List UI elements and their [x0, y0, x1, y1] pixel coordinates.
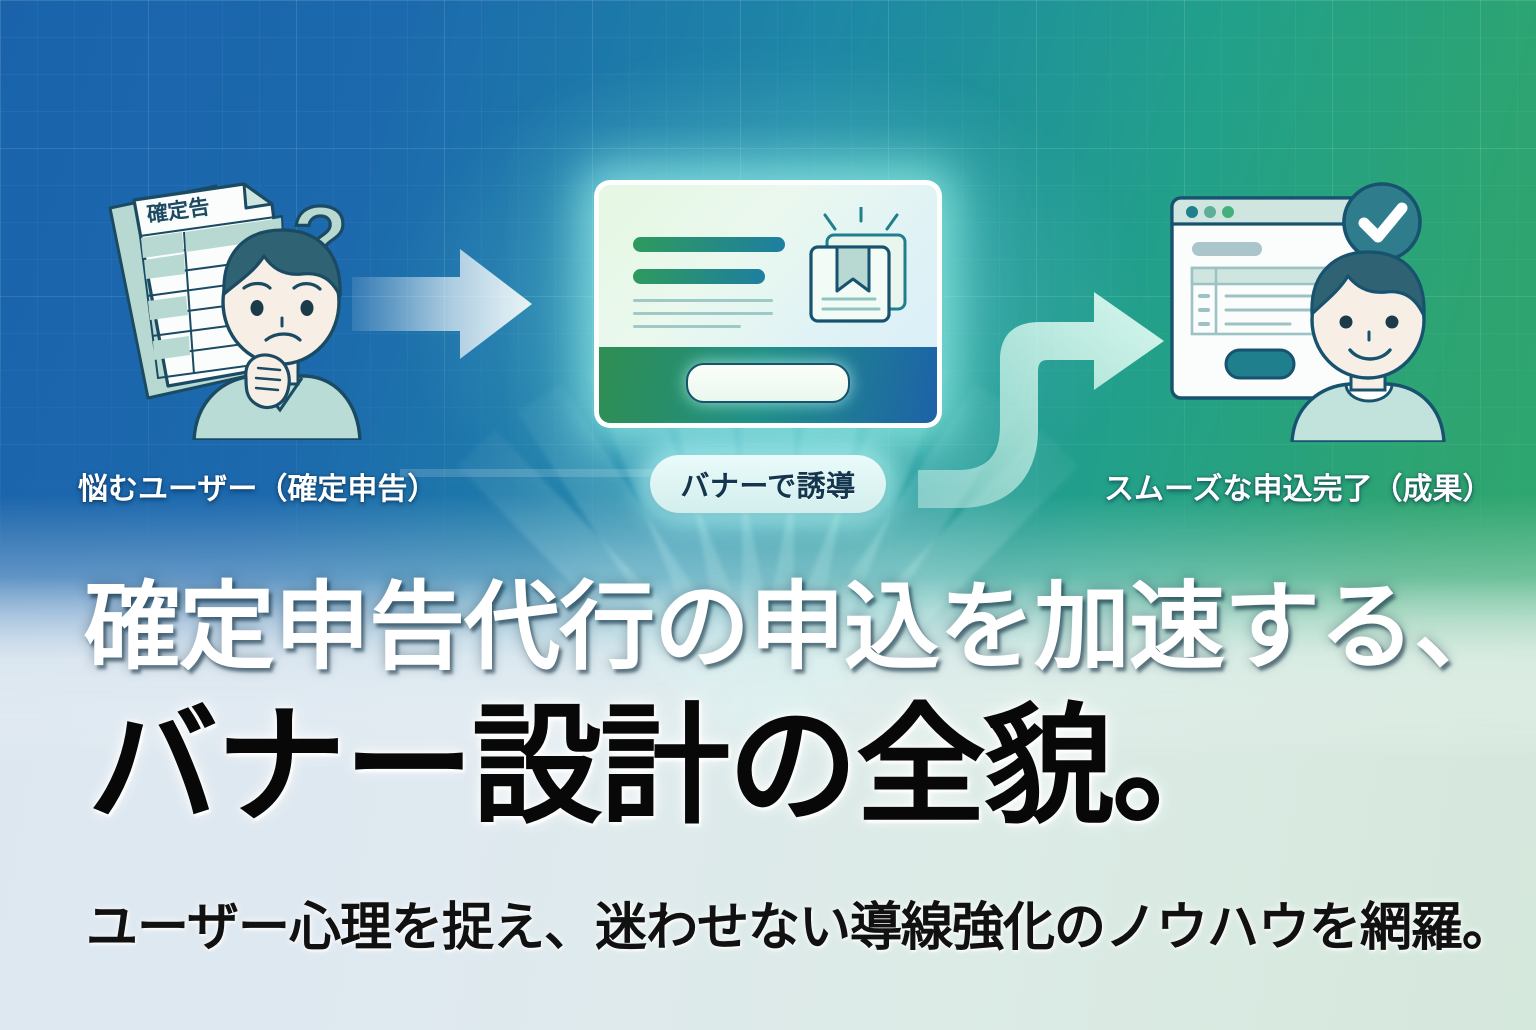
subheadline: ユーザー心理を捉え、迷わせない導線強化のノウハウを網羅。 [86, 900, 1486, 957]
pill-banner-text: バナーで誘導 [680, 463, 855, 505]
check-badge-icon [1344, 184, 1420, 260]
caption-step-3: スムーズな申込完了（成果） [1104, 464, 1493, 508]
headline-line-1: 確定申告代行の申込を加速する、 [84, 578, 1464, 678]
headline-line-2: バナー設計の全貌。 [88, 700, 1488, 833]
submitted-button [1226, 350, 1294, 378]
caption-step-1: 悩むユーザー（確定申告） [78, 464, 437, 508]
step-worried-user: 確定告 [96, 178, 386, 440]
banner-cta-button[interactable] [686, 363, 850, 403]
window-dots-icon [1186, 206, 1234, 218]
banner-subline-bar [633, 269, 765, 284]
pill-banner-label: バナーで誘導 [650, 455, 886, 513]
step-banner [594, 180, 942, 428]
banner-mockup-icon [594, 180, 942, 428]
poster-canvas: 確定告 [0, 0, 1536, 1030]
banner-headline-bar [633, 237, 785, 252]
bookmark-document-icon [795, 207, 927, 327]
banner-text-line [633, 325, 741, 328]
connector-band-left [400, 466, 680, 480]
banner-text-line [633, 299, 773, 302]
step-conversion [1150, 170, 1490, 442]
banner-text-line [633, 312, 773, 315]
